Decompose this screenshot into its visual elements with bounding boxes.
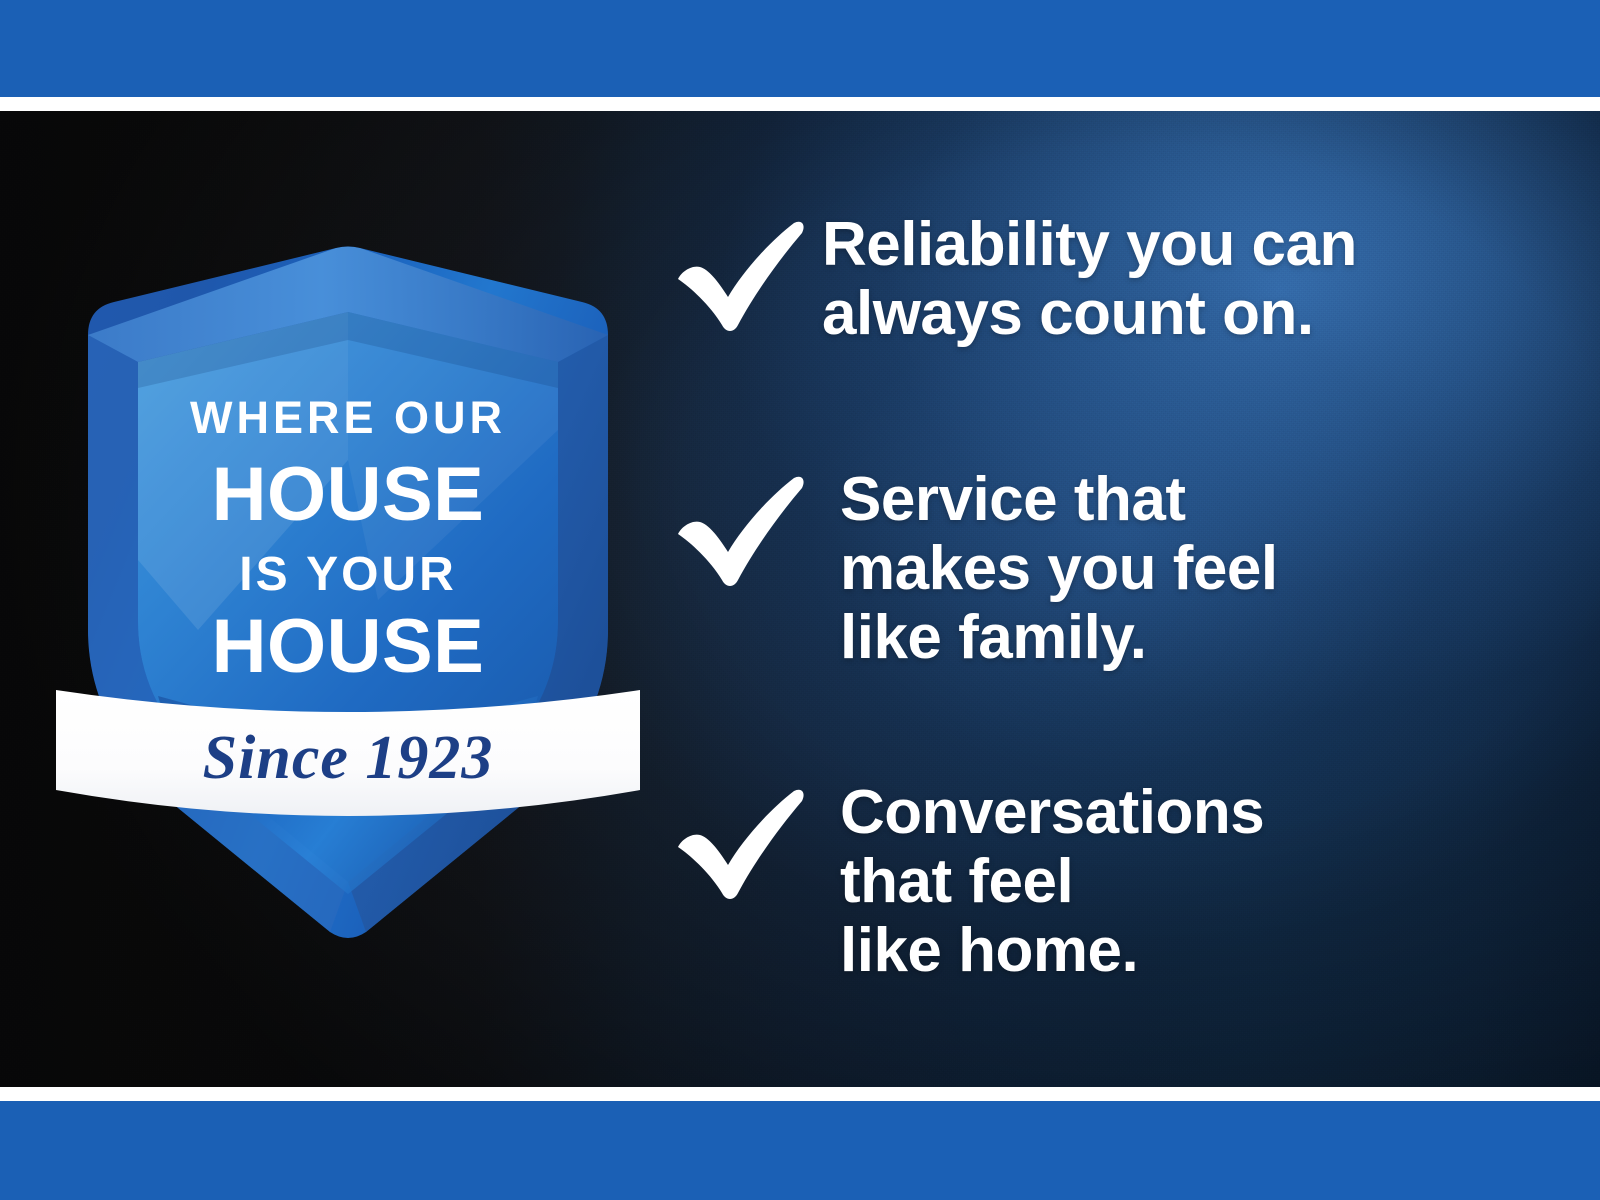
shield-line-4: HOUSE: [212, 604, 485, 689]
check-icon: [672, 466, 822, 588]
bottom-white-divider: [0, 1087, 1600, 1101]
benefit-text-2: Service that makes you feel like family.: [840, 466, 1572, 672]
check-icon: [672, 779, 822, 901]
benefit-item-3: Conversations that feel like home.: [672, 779, 1572, 985]
shield-line-2: HOUSE: [212, 452, 485, 537]
shield-badge: WHERE OUR HOUSE IS YOUR HOUSE Since 1923: [48, 130, 648, 950]
marketing-graphic: WHERE OUR HOUSE IS YOUR HOUSE Since 1923…: [0, 0, 1600, 1200]
check-icon: [672, 211, 822, 333]
benefit-item-1: Reliability you can always count on.: [672, 211, 1572, 349]
benefit-item-2: Service that makes you feel like family.: [672, 466, 1572, 672]
ribbon-text: Since 1923: [203, 724, 494, 792]
benefit-text-1: Reliability you can always count on.: [822, 211, 1572, 349]
benefit-text-3: Conversations that feel like home.: [840, 779, 1572, 985]
top-white-divider: [0, 97, 1600, 111]
bottom-brand-bar: [0, 1101, 1600, 1200]
shield-line-1: WHERE OUR: [190, 392, 506, 443]
benefits-list: Reliability you can always count on. Ser…: [672, 111, 1572, 1087]
top-brand-bar: [0, 0, 1600, 97]
shield-line-3: IS YOUR: [239, 548, 457, 601]
